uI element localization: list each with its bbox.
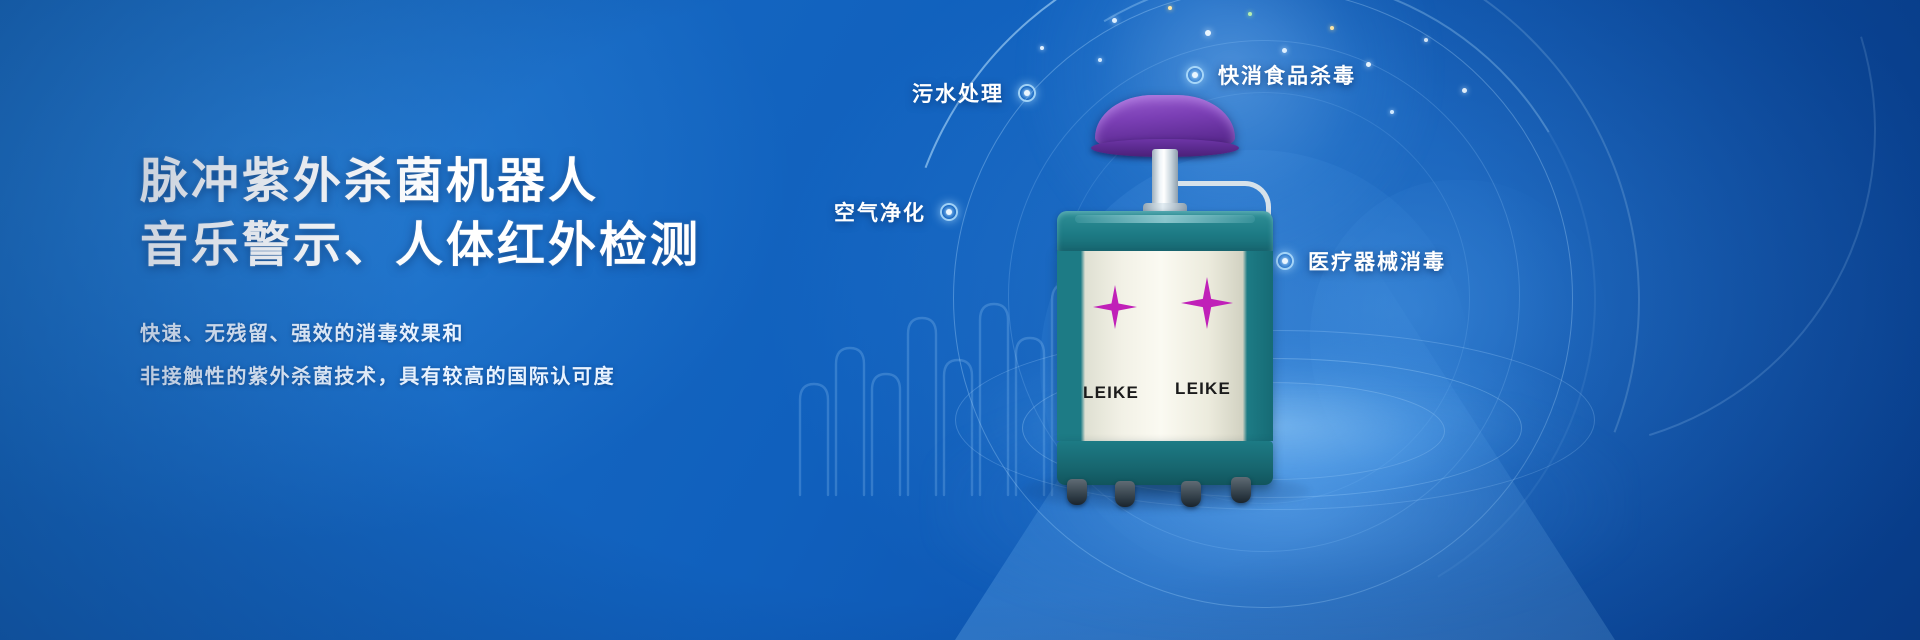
sparkle-icon: [1205, 30, 1211, 36]
brand-logo-text: LEIKE: [1175, 379, 1231, 399]
feature-callout-food-disinfection[interactable]: 快消食品杀毒: [1186, 60, 1356, 90]
caster-wheel-icon: [1231, 477, 1251, 503]
body-line-1: 快速、无残留、强效的消毒效果和: [140, 313, 840, 356]
sparkle-icon: [1168, 6, 1172, 10]
product-hero-banner: 脉冲紫外杀菌机器人 音乐警示、人体红外检测 快速、无残留、强效的消毒效果和 非接…: [0, 0, 1920, 640]
sparkle-icon: [1424, 38, 1428, 42]
node-dot-icon: [940, 203, 958, 221]
sparkle-icon: [1462, 88, 1467, 93]
sparkle-icon: [1040, 46, 1044, 50]
sparkle-icon: [1098, 58, 1102, 62]
uv-lamp-neck: [1152, 149, 1178, 211]
sparkle-icon: [1330, 26, 1334, 30]
feature-label: 污水处理: [912, 78, 1004, 108]
feature-label: 快消食品杀毒: [1218, 60, 1356, 90]
feature-callout-wastewater[interactable]: 污水处理: [912, 78, 1036, 108]
background-blob-right: [1310, 180, 1610, 510]
brand-logo-text: LEIKE: [1083, 383, 1139, 403]
sparkle-icon: [1390, 110, 1394, 114]
caster-wheel-icon: [1181, 481, 1201, 507]
product-image-uv-robot: LEIKE LEIKE: [1035, 95, 1295, 495]
node-dot-icon: [1018, 84, 1036, 102]
product-body-highlight: [1075, 215, 1255, 223]
feature-label: 空气净化: [834, 197, 926, 227]
sparkle-icon: [1248, 12, 1252, 16]
node-dot-icon: [1186, 66, 1204, 84]
feature-callout-air-purification[interactable]: 空气净化: [834, 197, 958, 227]
feature-label: 医疗器械消毒: [1308, 246, 1446, 276]
sparkle-icon: [1112, 18, 1117, 23]
hero-text-block: 脉冲紫外杀菌机器人 音乐警示、人体红外检测 快速、无残留、强效的消毒效果和 非接…: [140, 150, 840, 399]
caster-wheel-icon: [1115, 481, 1135, 507]
product-body-panel: [1057, 251, 1273, 441]
sparkle-icon: [1366, 62, 1371, 67]
hero-body-text: 快速、无残留、强效的消毒效果和 非接触性的紫外杀菌技术，具有较高的国际认可度: [140, 313, 840, 399]
page-title-line-1: 脉冲紫外杀菌机器人: [140, 150, 840, 214]
sparkle-icon: [1282, 48, 1287, 53]
page-title-line-2: 音乐警示、人体红外检测: [140, 214, 840, 278]
body-line-2: 非接触性的紫外杀菌技术，具有较高的国际认可度: [140, 356, 840, 399]
caster-wheel-icon: [1067, 479, 1087, 505]
feature-callout-medical-device-sterilization[interactable]: 医疗器械消毒: [1276, 246, 1446, 276]
